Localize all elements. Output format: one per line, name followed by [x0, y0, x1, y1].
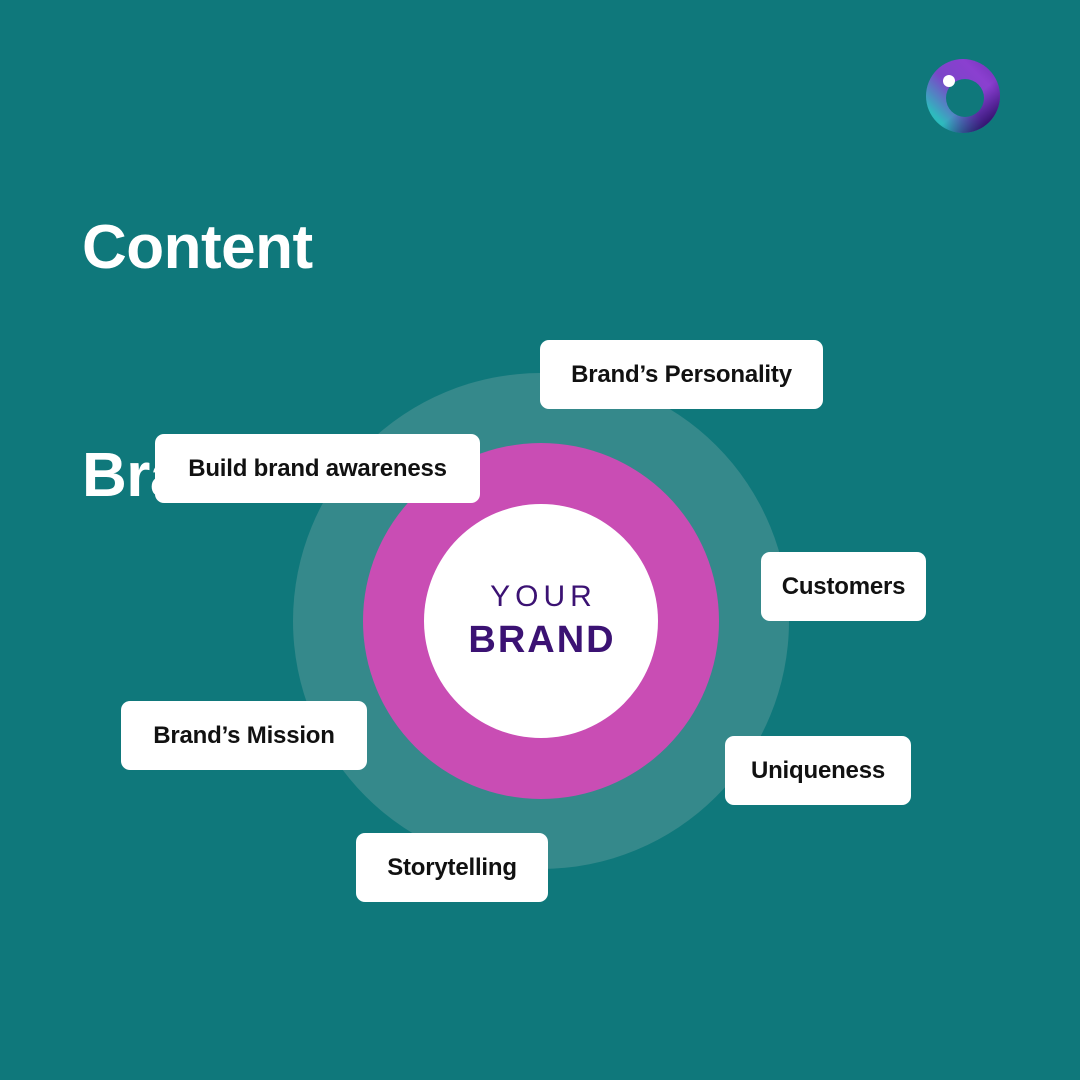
label-chip-uniqueness[interactable]: Uniqueness [725, 736, 911, 805]
brand-circle-diagram: YOUR BRAND Brand’s Personality Build bra… [0, 0, 1080, 1080]
label-chip-brands-personality[interactable]: Brand’s Personality [540, 340, 823, 409]
label-chip-build-brand-awareness[interactable]: Build brand awareness [155, 434, 480, 503]
center-label-your: YOUR [485, 579, 597, 615]
center-label-brand: BRAND [466, 617, 615, 663]
label-chip-storytelling[interactable]: Storytelling [356, 833, 548, 902]
poster-canvas: Content Brand Marketing [0, 0, 1080, 1080]
label-chip-customers[interactable]: Customers [761, 552, 926, 621]
label-chip-brands-mission[interactable]: Brand’s Mission [121, 701, 367, 770]
center-brand-label: YOUR BRAND [424, 504, 658, 738]
